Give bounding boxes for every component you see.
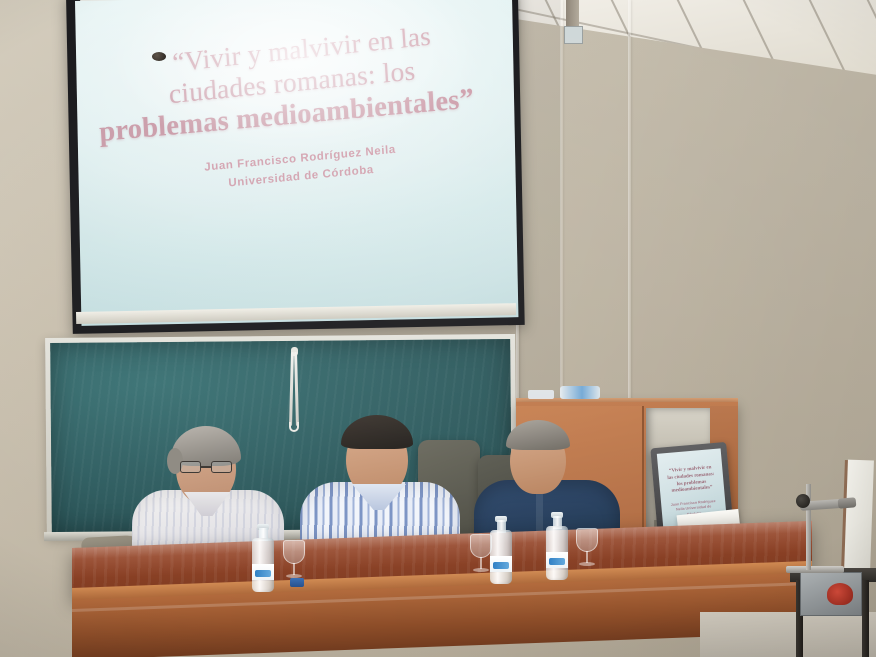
glass-bowl xyxy=(283,540,305,564)
laptop-slide-title: “Vivir y malvivir en las ciudades romana… xyxy=(666,465,716,496)
drinking-glass[interactable] xyxy=(283,540,305,580)
side-table-leg xyxy=(862,580,869,657)
slide-title: “Vivir y malvivir en las ciudades romana… xyxy=(101,13,496,151)
slide-content: “Vivir y malvivir en las ciudades romana… xyxy=(101,13,500,207)
lens xyxy=(211,461,232,473)
wall-seam xyxy=(628,0,631,400)
hair xyxy=(341,415,413,449)
projection-screen: “Vivir y malvivir en las ciudades romana… xyxy=(18,0,518,354)
cord-strand xyxy=(289,352,293,426)
stand-tip xyxy=(838,497,857,509)
screen-pull-cord[interactable] xyxy=(290,352,297,428)
water-bottle[interactable] xyxy=(490,516,512,584)
hair xyxy=(171,426,241,466)
stand-base xyxy=(786,566,844,573)
cord-loop xyxy=(289,422,299,432)
white-panel xyxy=(844,460,874,573)
glass-foot xyxy=(579,562,595,566)
water-bottle[interactable] xyxy=(252,524,274,592)
bottle-label xyxy=(252,564,274,580)
podium-knob xyxy=(152,52,166,61)
wall-panel xyxy=(519,0,561,420)
podium-white-item xyxy=(528,390,554,399)
bottle-label xyxy=(490,556,512,572)
bottle-label xyxy=(546,552,568,568)
floor xyxy=(700,612,876,657)
stand-head xyxy=(796,494,810,508)
glass-bowl xyxy=(470,534,492,558)
glasses-bridge xyxy=(201,466,211,468)
glass-bowl xyxy=(576,528,598,552)
water-bottle[interactable] xyxy=(546,512,568,580)
glass-foot xyxy=(473,568,489,572)
glasses xyxy=(180,461,232,473)
red-component xyxy=(827,583,853,605)
ceiling-bracket xyxy=(566,0,579,40)
drinking-glass[interactable] xyxy=(470,534,492,574)
drinking-glass[interactable] xyxy=(576,528,598,568)
screen-surface: “Vivir y malvivir en las ciudades romana… xyxy=(75,0,518,326)
blue-marker xyxy=(290,578,304,587)
photograph-scene: “Vivir y malvivir en las ciudades romana… xyxy=(0,0,876,657)
lens xyxy=(180,461,201,473)
grey-equipment-box xyxy=(800,572,862,616)
podium-blue-item xyxy=(560,386,600,399)
hair xyxy=(506,420,570,450)
